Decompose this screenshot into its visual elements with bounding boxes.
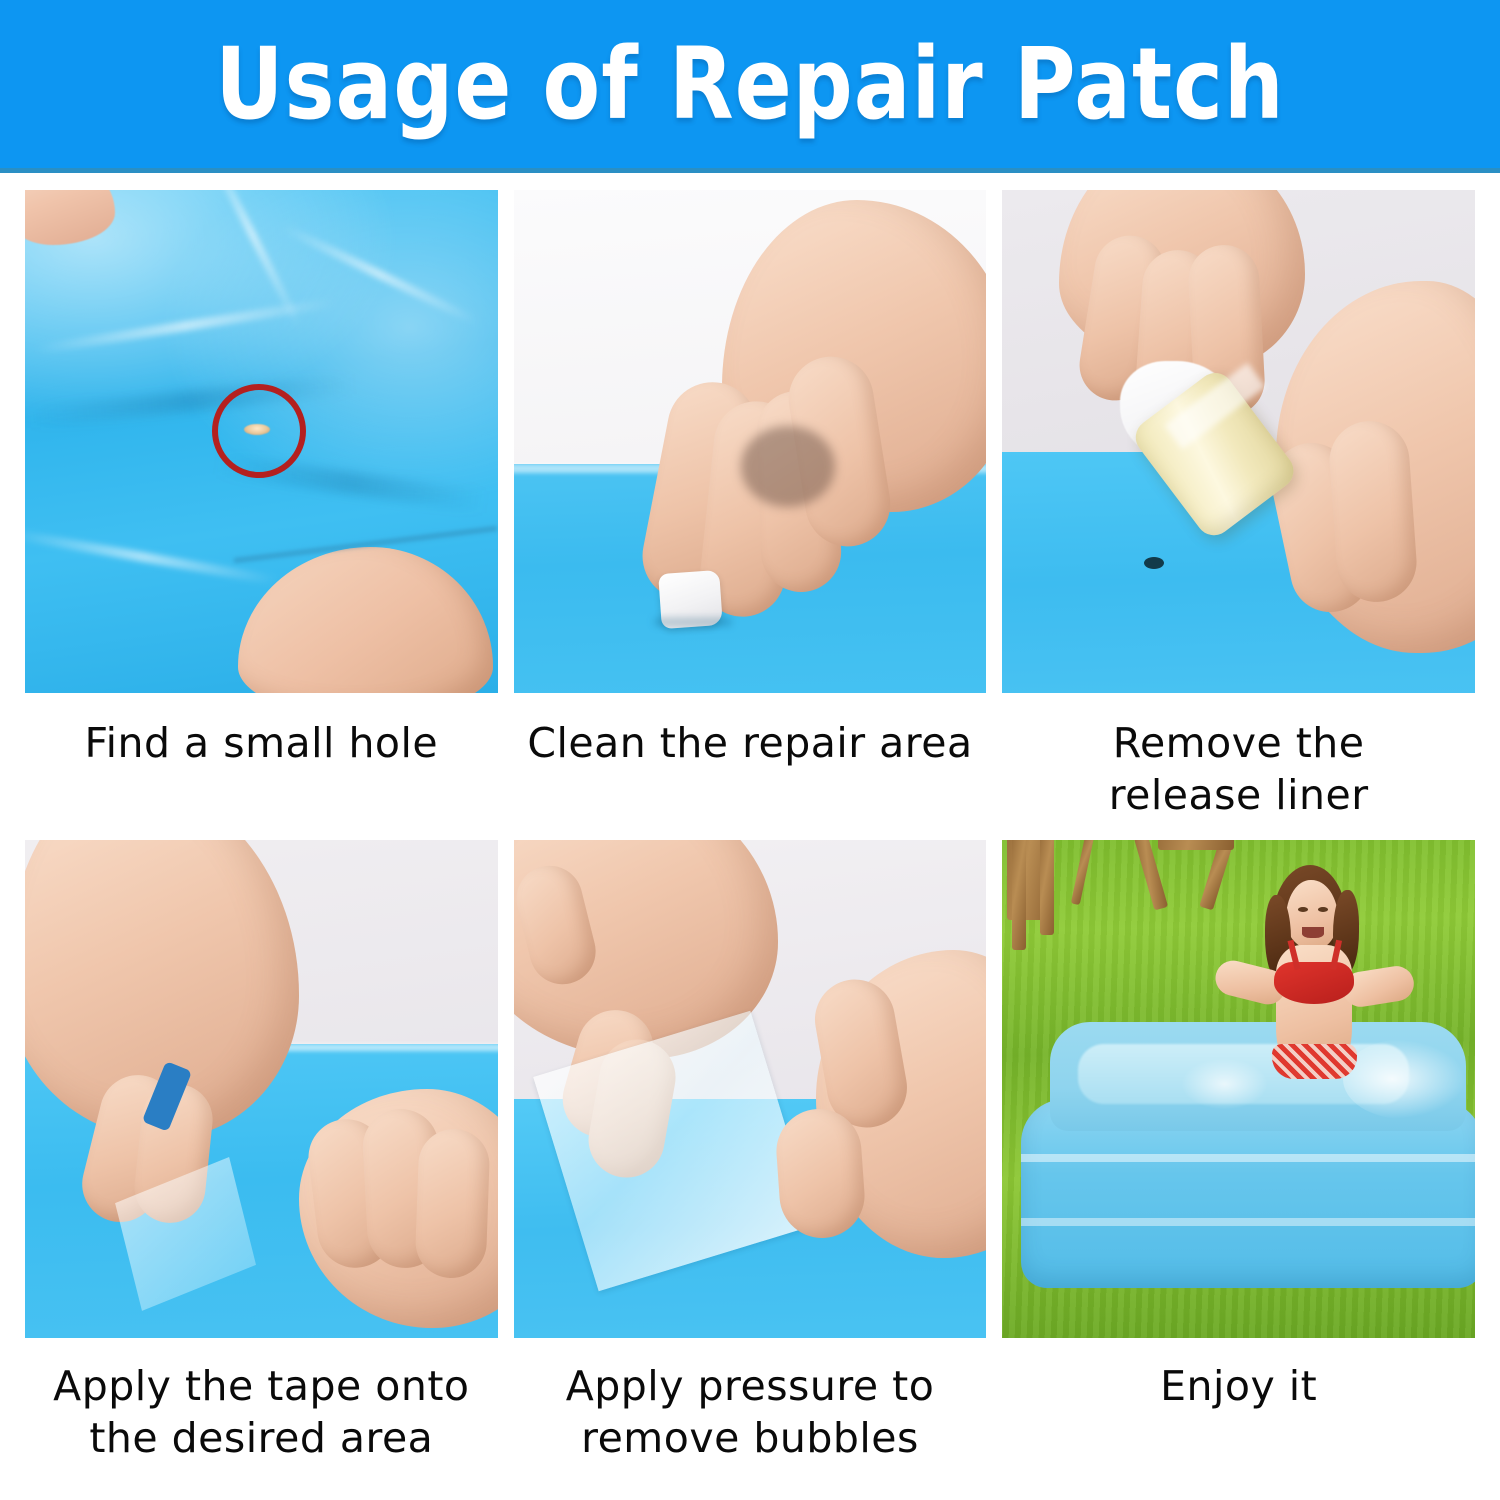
step-card-1: Find a small hole: [25, 190, 498, 840]
step-caption-1: Find a small hole: [25, 693, 498, 840]
step-caption-4: Apply the tape onto the desired area: [25, 1338, 498, 1480]
step-image-6: [1002, 840, 1475, 1338]
step-caption-5: Apply pressure to remove bubbles: [514, 1338, 987, 1480]
header-divider: [0, 168, 1500, 173]
step-card-5: Apply pressure to remove bubbles: [514, 840, 987, 1480]
step-caption-3: Remove the release liner: [1002, 693, 1475, 840]
steps-grid: Find a small hole Clean the repair area: [25, 190, 1475, 1480]
step-image-5: [514, 840, 987, 1338]
step-image-1: [25, 190, 498, 693]
infographic-page: Usage of Repair Patch: [0, 0, 1500, 1500]
step-card-2: Clean the repair area: [514, 190, 987, 840]
step-caption-6: Enjoy it: [1002, 1338, 1475, 1480]
step-card-6: Enjoy it: [1002, 840, 1475, 1480]
step-image-4: [25, 840, 498, 1338]
page-title: Usage of Repair Patch: [215, 26, 1284, 142]
red-circle-annotation: [212, 384, 306, 478]
girl-face: [1286, 880, 1338, 950]
step-image-2: [514, 190, 987, 693]
step-caption-2: Clean the repair area: [514, 693, 987, 840]
step-image-3: [1002, 190, 1475, 693]
step-card-4: Apply the tape onto the desired area: [25, 840, 498, 1480]
step-card-3: Remove the release liner: [1002, 190, 1475, 840]
header-banner: Usage of Repair Patch: [0, 0, 1500, 168]
bikini-bottom: [1272, 1044, 1357, 1079]
